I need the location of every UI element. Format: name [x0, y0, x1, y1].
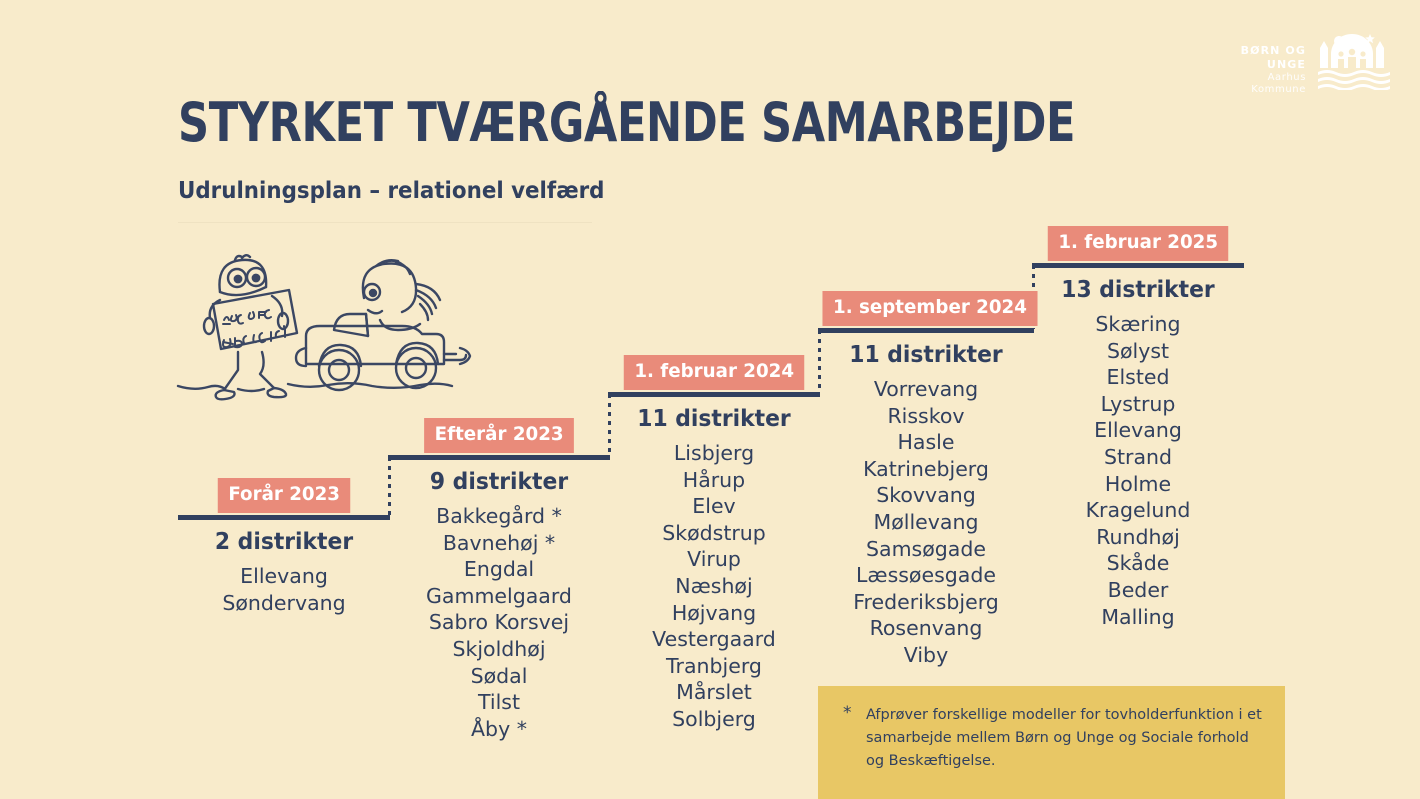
- district-item: Åby *: [388, 716, 610, 743]
- district-item: Rundhøj: [1032, 524, 1244, 551]
- step-column-5: 1. februar 2025 13 distrikter Skæring Sø…: [1032, 226, 1244, 630]
- district-item: Skæring: [1032, 311, 1244, 338]
- header-divider: [178, 222, 592, 223]
- district-item: Lystrup: [1032, 391, 1244, 418]
- page-subtitle: Udrulningsplan – relationel velfærd: [178, 180, 604, 203]
- footnote-text: Afprøver forskellige modeller for tovhol…: [866, 704, 1263, 773]
- step-date-badge: 1. februar 2024: [624, 355, 805, 390]
- district-list: Lisbjerg Hårup Elev Skødstrup Virup Næsh…: [608, 440, 820, 733]
- district-item: Skovvang: [818, 482, 1034, 509]
- children-illustration: [176, 248, 488, 408]
- district-item: Næshøj: [608, 573, 820, 600]
- district-item: Søndervang: [178, 590, 390, 617]
- district-list: Vorrevang Risskov Hasle Katrinebjerg Sko…: [818, 376, 1034, 669]
- step-column-3: 1. februar 2024 11 distrikter Lisbjerg H…: [608, 355, 820, 733]
- district-item: Engdal: [388, 556, 610, 583]
- page-title: STYRKET TVÆRGÅENDE SAMARBEJDE: [178, 96, 1075, 150]
- logo-line-2: Aarhus Kommune: [1216, 72, 1306, 97]
- step-count: 11 distrikter: [823, 344, 1028, 367]
- step-count: 13 distrikter: [1037, 279, 1238, 302]
- logo-text: BØRN OG UNGE Aarhus Kommune: [1216, 44, 1306, 97]
- step-column-1: Forår 2023 2 distrikter Ellevang Sønderv…: [178, 478, 390, 616]
- district-item: Ellevang: [178, 563, 390, 590]
- step-date-badge: Efterår 2023: [424, 418, 574, 453]
- district-item: Sødal: [388, 663, 610, 690]
- district-item: Møllevang: [818, 509, 1034, 536]
- district-item: Elsted: [1032, 364, 1244, 391]
- step-count: 2 distrikter: [183, 531, 384, 554]
- district-item: Skødstrup: [608, 520, 820, 547]
- district-item: Skjoldhøj: [388, 636, 610, 663]
- district-item: Kragelund: [1032, 497, 1244, 524]
- district-item: Sabro Korsvej: [388, 609, 610, 636]
- district-item: Hårup: [608, 467, 820, 494]
- step-date-badge: 1. februar 2025: [1048, 226, 1229, 261]
- step-date-badge: 1. september 2024: [822, 291, 1037, 326]
- district-item: Hasle: [818, 429, 1034, 456]
- logo: BØRN OG UNGE Aarhus Kommune: [1216, 18, 1396, 90]
- footnote-box: * Afprøver forskellige modeller for tovh…: [818, 686, 1285, 799]
- district-item: Vorrevang: [818, 376, 1034, 403]
- step-count: 9 distrikter: [394, 471, 605, 494]
- district-list: Bakkegård * Bavnehøj * Engdal Gammelgaar…: [388, 503, 610, 742]
- district-item: Katrinebjerg: [818, 456, 1034, 483]
- district-item: Bakkegård *: [388, 503, 610, 530]
- district-item: Mårslet: [608, 679, 820, 706]
- district-item: Rosenvang: [818, 615, 1034, 642]
- footnote-marker: *: [843, 705, 852, 722]
- district-item: Virup: [608, 546, 820, 573]
- district-item: Læssøesgade: [818, 562, 1034, 589]
- district-list: Skæring Sølyst Elsted Lystrup Ellevang S…: [1032, 311, 1244, 630]
- district-item: Ellevang: [1032, 417, 1244, 444]
- step-column-4: 1. september 2024 11 distrikter Vorrevan…: [818, 291, 1034, 669]
- district-item: Viby: [818, 642, 1034, 669]
- district-item: Vestergaard: [608, 626, 820, 653]
- step-column-2: Efterår 2023 9 distrikter Bakkegård * Ba…: [388, 418, 610, 742]
- district-item: Frederiksbjerg: [818, 589, 1034, 616]
- infographic-canvas: STYRKET TVÆRGÅENDE SAMARBEJDE Udrulnings…: [0, 0, 1420, 799]
- district-item: Elev: [608, 493, 820, 520]
- district-item: Strand: [1032, 444, 1244, 471]
- district-item: Gammelgaard: [388, 583, 610, 610]
- district-item: Tranbjerg: [608, 653, 820, 680]
- district-item: Bavnehøj *: [388, 530, 610, 557]
- district-item: Højvang: [608, 600, 820, 627]
- district-item: Tilst: [388, 689, 610, 716]
- district-item: Malling: [1032, 604, 1244, 631]
- step-date-badge: Forår 2023: [218, 478, 351, 513]
- district-item: Beder: [1032, 577, 1244, 604]
- district-list: Ellevang Søndervang: [178, 563, 390, 616]
- district-item: Lisbjerg: [608, 440, 820, 467]
- step-count: 11 distrikter: [613, 408, 814, 431]
- district-item: Samsøgade: [818, 536, 1034, 563]
- district-item: Skåde: [1032, 550, 1244, 577]
- district-item: Solbjerg: [608, 706, 820, 733]
- district-item: Sølyst: [1032, 338, 1244, 365]
- aarhus-kommune-crest-icon: [1314, 28, 1390, 90]
- logo-line-1: BØRN OG UNGE: [1216, 44, 1306, 72]
- district-item: Risskov: [818, 403, 1034, 430]
- district-item: Holme: [1032, 471, 1244, 498]
